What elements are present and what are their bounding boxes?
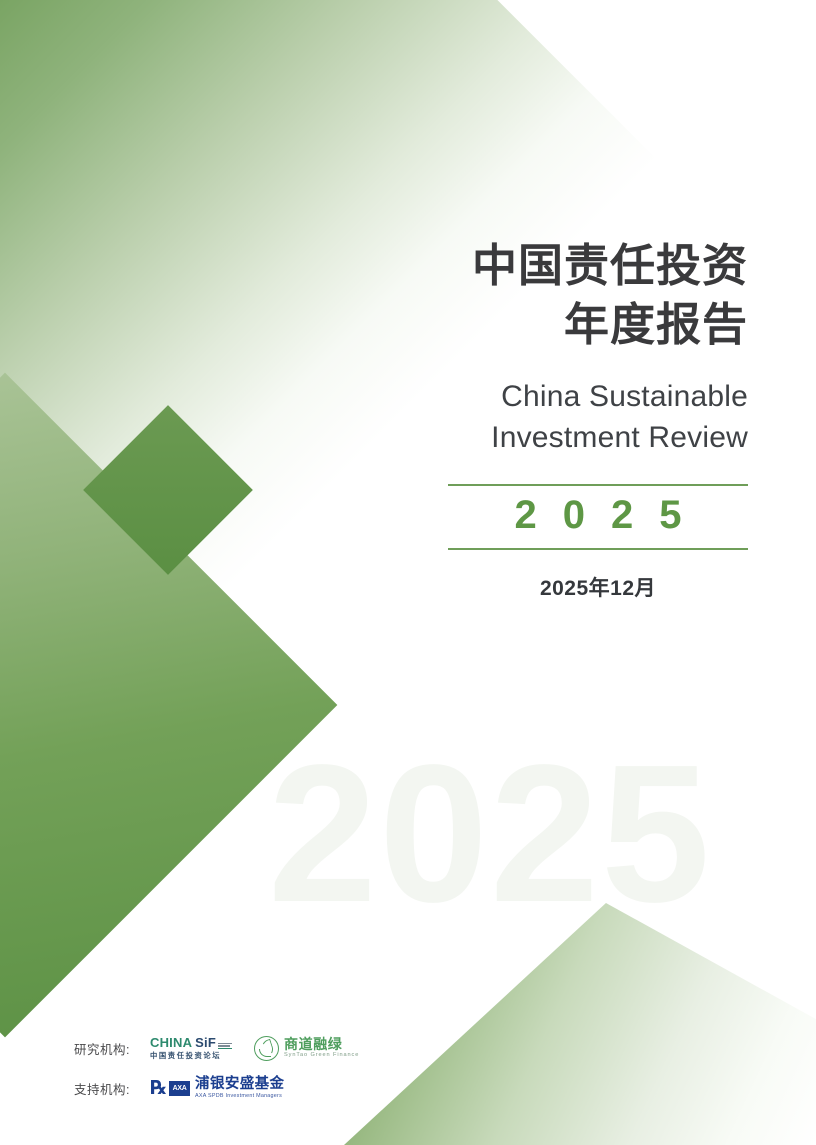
page-title-english: China Sustainable Investment Review [448,377,748,459]
china-sif-word-sif: SiF [195,1036,216,1049]
china-sif-logo: CHINA SiF 中国责任投资论坛 [150,1036,232,1059]
axa-spdb-subtitle-english: AXA SPDB Investment Managers [195,1094,284,1099]
china-sif-word-china: CHINA [150,1036,192,1049]
syntao-subtitle-english: SynTao Green Finance [284,1053,359,1059]
supporting-organizations-row: 支持机构: ℞ AXA 浦银安盛基金 AXA SPDB Investment M… [74,1071,494,1105]
report-cover-page: 2025 中国责任投资 年度报告 China Sustainable Inves… [0,0,816,1145]
footer-organizations: 研究机构: CHINA SiF 中国责任投资论坛 商道融绿 [74,1031,494,1111]
supporting-organizations-label: 支持机构: [74,1079,150,1098]
spdb-monogram-icon: ℞ [150,1077,166,1100]
cover-year: 2025 [448,493,748,538]
green-diamond-graphic [0,373,337,1038]
syntao-title-chinese: 商道融绿 [284,1037,359,1051]
axa-spdb-logo: ℞ AXA 浦银安盛基金 AXA SPDB Investment Manager… [150,1077,284,1100]
green-wedge-graphic [83,405,253,575]
axa-spdb-title-chinese: 浦银安盛基金 [195,1077,284,1092]
year-rule-band: 2025 [448,484,748,550]
research-organizations-label: 研究机构: [74,1039,150,1058]
syntao-green-finance-logo: 商道融绿 SynTao Green Finance [254,1036,359,1061]
axa-mark-icon: AXA [169,1081,190,1096]
axa-mark-label: AXA [173,1085,187,1092]
page-title-chinese: 中国责任投资 年度报告 [448,236,748,355]
publication-date: 2025年12月 [448,572,748,602]
syntao-leaf-circle-icon [254,1036,279,1061]
year-watermark: 2025 [268,736,768,932]
china-sif-bars-icon [218,1043,232,1050]
title-block: 中国责任投资 年度报告 China Sustainable Investment… [448,236,748,602]
research-organizations-row: 研究机构: CHINA SiF 中国责任投资论坛 商道融绿 [74,1031,494,1065]
china-sif-subtitle: 中国责任投资论坛 [150,1052,232,1059]
